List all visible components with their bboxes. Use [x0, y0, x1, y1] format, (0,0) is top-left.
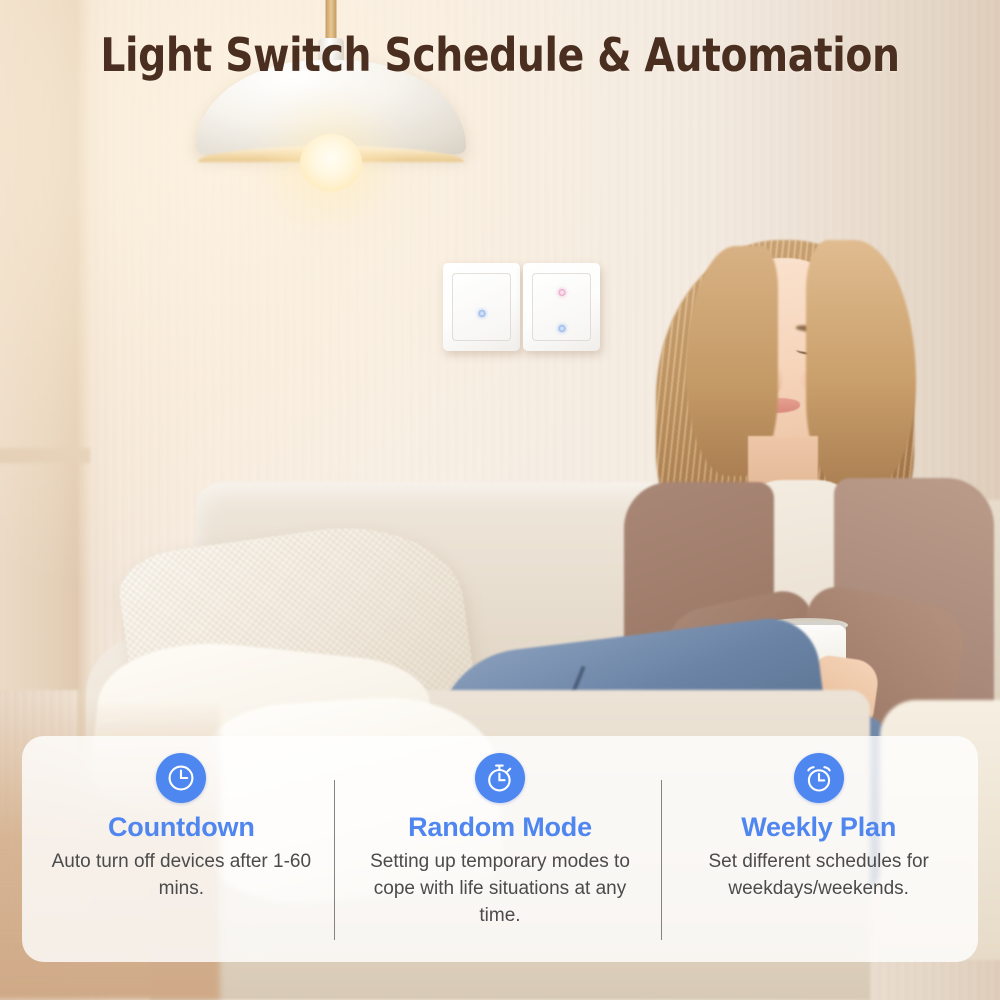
- feature-title: Countdown: [108, 813, 255, 843]
- feature-card-random-mode[interactable]: Random Mode Setting up temporary modes t…: [341, 736, 660, 962]
- lamp-bulb: [300, 134, 362, 192]
- product-banner: Light Switch Schedule & Automation Count…: [0, 0, 1000, 1000]
- hair-front-right: [806, 240, 916, 490]
- wall-switch-double[interactable]: [523, 263, 600, 351]
- led-indicator-pink: [558, 289, 565, 296]
- feature-card-countdown[interactable]: Countdown Auto turn off devices after 1-…: [22, 736, 341, 962]
- alarm-clock-icon: [794, 753, 844, 803]
- feature-description: Set different schedules for weekdays/wee…: [684, 849, 954, 903]
- feature-title: Weekly Plan: [741, 813, 896, 843]
- stopwatch-icon: [475, 753, 525, 803]
- feature-card-weekly-plan[interactable]: Weekly Plan Set different schedules for …: [659, 736, 978, 962]
- feature-description: Setting up temporary modes to cope with …: [365, 849, 635, 930]
- wall-switch-single[interactable]: [443, 263, 520, 351]
- led-indicator-blue: [558, 325, 565, 332]
- feature-panel: Countdown Auto turn off devices after 1-…: [22, 736, 978, 962]
- feature-title: Random Mode: [408, 813, 592, 843]
- page-title: Light Switch Schedule & Automation: [25, 28, 975, 82]
- clock-icon: [156, 753, 206, 803]
- feature-description: Auto turn off devices after 1-60 mins.: [46, 849, 316, 903]
- wall-switch-group: [443, 263, 600, 351]
- switch-face: [452, 273, 511, 341]
- led-indicator-blue: [478, 310, 485, 317]
